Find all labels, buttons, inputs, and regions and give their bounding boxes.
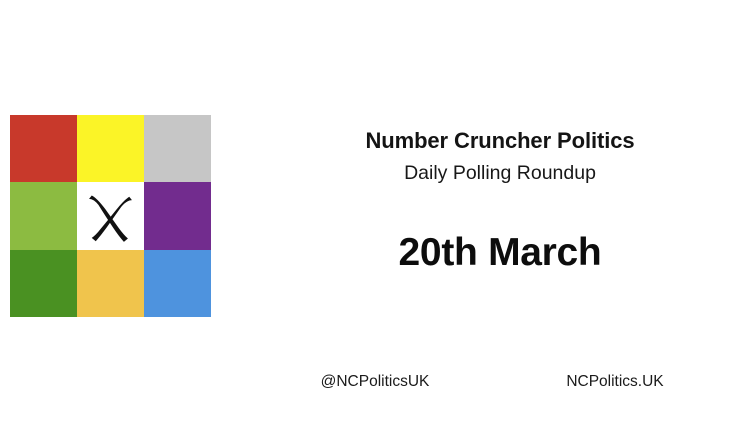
logo-cell-blue [144,250,211,317]
headline-block: Number Cruncher Politics Daily Polling R… [340,128,660,187]
logo-cell-amber [77,250,144,317]
footer-twitter-handle: @NCPoliticsUK [240,373,510,391]
footer-website: NCPolitics.UK [500,373,730,391]
title-slide: Number Cruncher Politics Daily Polling R… [0,0,730,430]
logo-cell-grey [144,115,211,182]
logo-cell-ballot [77,182,144,249]
logo-cell-light-green [10,182,77,249]
logo-cell-dark-green [10,250,77,317]
ballot-x-mark-icon [77,182,144,249]
slide-date: 20th March [340,232,660,275]
number-cruncher-politics-logo [10,115,211,317]
logo-cell-red [10,115,77,182]
brand-subtitle: Daily Polling Roundup [340,161,660,186]
logo-cell-purple [144,182,211,249]
logo-cell-yellow [77,115,144,182]
brand-title: Number Cruncher Politics [340,128,660,153]
